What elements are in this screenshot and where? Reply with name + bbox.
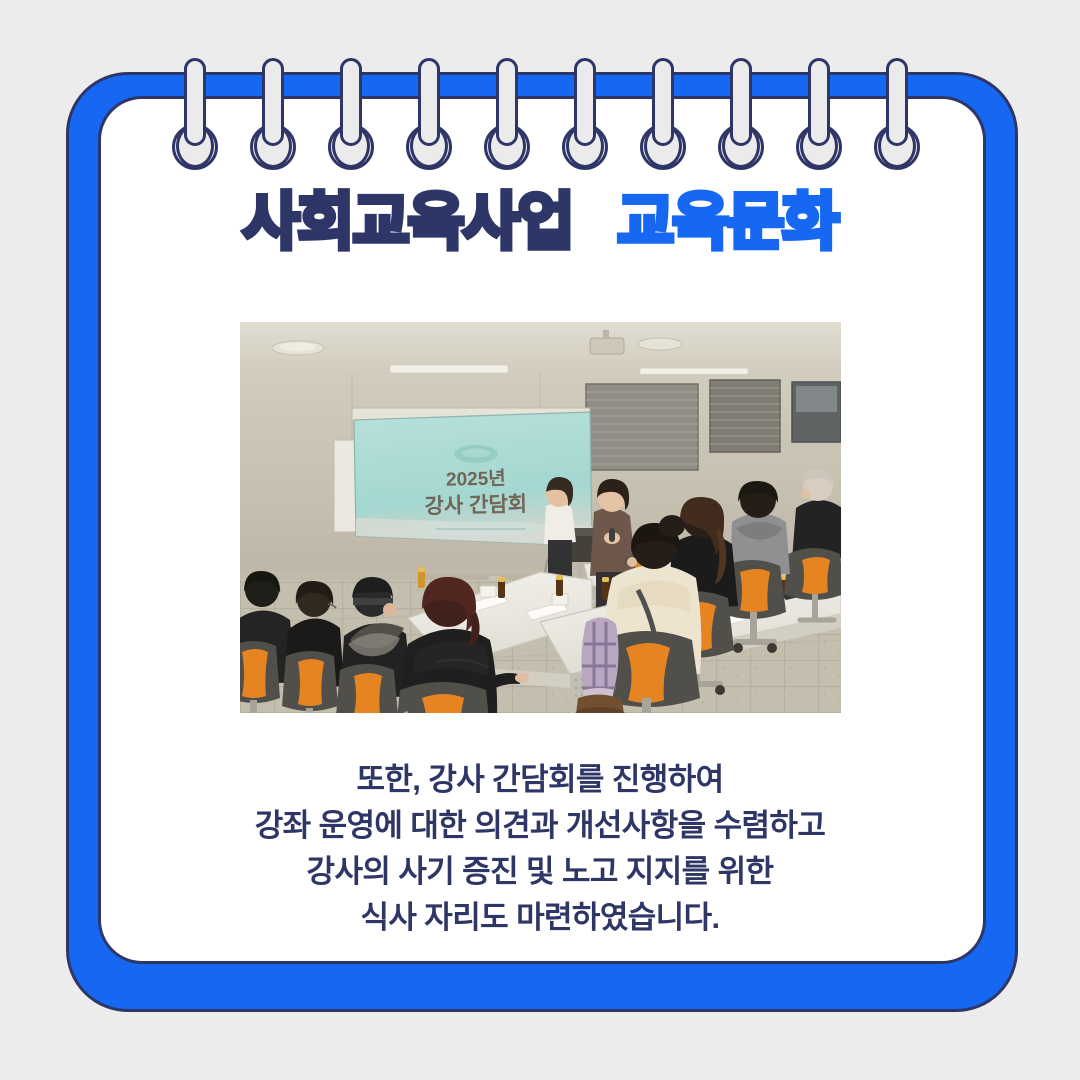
event-photo: 2025년 강사 간담회 [240,322,841,713]
caption-block: 또한, 강사 간담회를 진행하여 강좌 운영에 대한 의견과 개선사항을 수렴하… [90,757,990,941]
poster-card: 사회교육사업 교육문화 [0,0,1080,1080]
event-photo-illustration: 2025년 강사 간담회 [240,322,841,713]
title-primary-text: 사회교육사업 [243,192,573,254]
caption-line-2: 강좌 운영에 대한 의견과 개선사항을 수렴하고 [90,803,990,849]
page-title: 사회교육사업 교육문화 [0,192,1080,254]
title-accent-text: 교육문화 [617,192,837,254]
caption-line-3: 강사의 사기 증진 및 노고 지지를 위한 [90,849,990,895]
caption-line-4: 식사 자리도 마련하였습니다. [90,895,990,941]
caption-line-1: 또한, 강사 간담회를 진행하여 [90,757,990,803]
